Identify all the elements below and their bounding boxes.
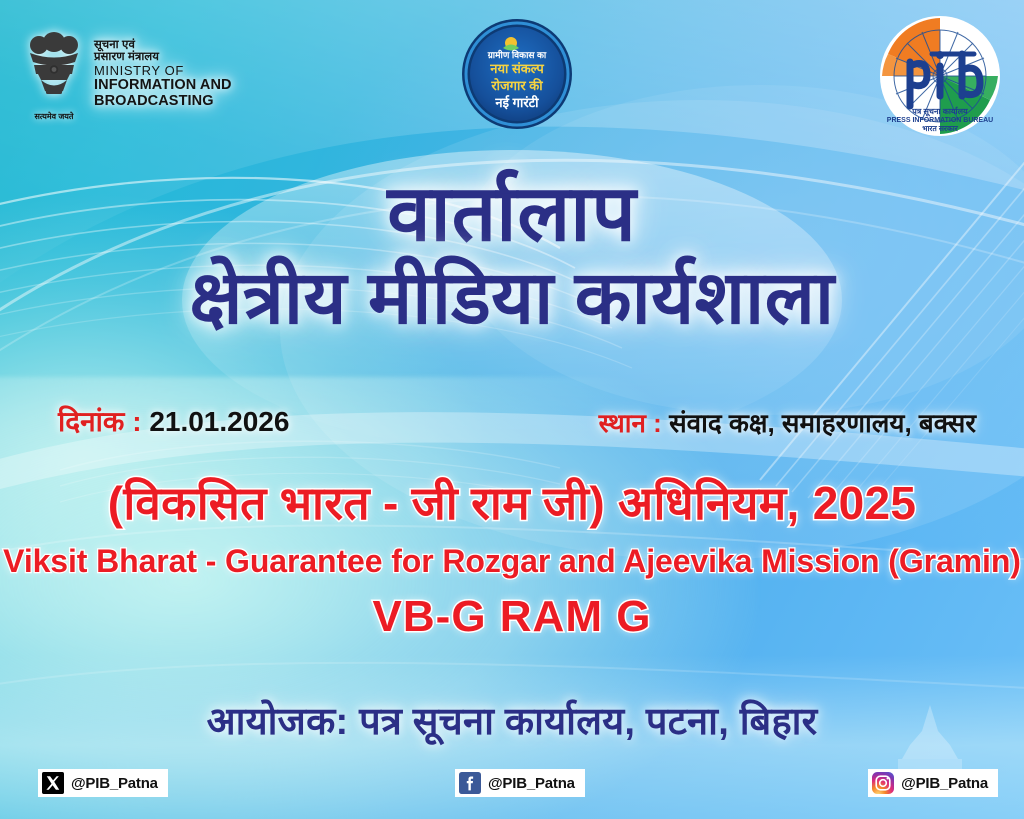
headline-line-2: क्षेत्रीय मीडिया कार्यशाला	[0, 258, 1024, 338]
event-poster: सत्यमेव जयते सूचना एवं प्रसारण मंत्रालय …	[0, 0, 1024, 819]
event-meta: दिनांक : 21.01.2026 स्थान : संवाद कक्ष, …	[0, 402, 1024, 450]
scheme-abbreviation: VB-G RAM G	[0, 592, 1024, 643]
ministry-english-line-3: BROADCASTING	[94, 94, 232, 109]
event-date-value: 21.01.2026	[149, 406, 289, 437]
facebook-handle-text: @PIB_Patna	[488, 775, 575, 792]
ministry-logo: सत्यमेव जयते सूचना एवं प्रसारण मंत्रालय …	[22, 26, 232, 122]
headline-line-1: वार्तालाप	[0, 174, 1024, 252]
instagram-icon	[872, 772, 894, 794]
social-footer: @PIB_Patna @PIB_Patna	[0, 769, 1024, 803]
svg-text:PRESS INFORMATION BUREAU: PRESS INFORMATION BUREAU	[887, 117, 993, 124]
event-date-label: दिनांक :	[58, 406, 142, 437]
svg-text:पत्र सूचना कार्यालय: पत्र सूचना कार्यालय	[911, 106, 968, 117]
rural-development-seal-icon: ग्रामीण विकास का नया संकल्प रोजगार की नई…	[461, 18, 573, 130]
svg-text:रोजगार की: रोजगार की	[490, 78, 543, 93]
x-twitter-icon	[42, 772, 64, 794]
ministry-hindi-line-2: प्रसारण मंत्रालय	[94, 51, 232, 63]
ministry-english-line-2: INFORMATION AND	[94, 78, 232, 93]
scheme-block: (विकसित भारत - जी राम जी) अधिनियम, 2025 …	[0, 478, 1024, 643]
instagram-handle-text: @PIB_Patna	[901, 775, 988, 792]
event-date: दिनांक : 21.01.2026	[58, 402, 289, 440]
svg-text:ग्रामीण विकास का: ग्रामीण विकास का	[487, 49, 547, 60]
event-venue: स्थान : संवाद कक्ष, समाहरणालय, बक्सर	[599, 404, 976, 440]
scheme-english-title: Viksit Bharat - Guarantee for Rozgar and…	[0, 542, 1024, 580]
ashoka-emblem-icon	[22, 26, 86, 110]
event-venue-label: स्थान :	[599, 408, 662, 438]
social-handle-facebook[interactable]: @PIB_Patna	[455, 769, 585, 797]
svg-text:नई गारंटी: नई गारंटी	[494, 95, 539, 110]
event-venue-value: संवाद कक्ष, समाहरणालय, बक्सर	[669, 408, 976, 438]
monument-silhouette-icon	[888, 705, 972, 775]
facebook-icon	[459, 772, 481, 794]
ministry-english-line-1: MINISTRY OF	[94, 64, 232, 78]
svg-text:नया संकल्प: नया संकल्प	[489, 61, 544, 76]
ministry-hindi-line-1: सूचना एवं	[94, 39, 232, 51]
ministry-motto: सत्यमेव जयते	[22, 111, 86, 122]
scheme-hindi-title: (विकसित भारत - जी राम जी) अधिनियम, 2025	[0, 478, 1024, 530]
organiser-line: आयोजक: पत्र सूचना कार्यालय, पटना, बिहार	[0, 694, 1024, 746]
pib-logo-icon: पत्र सूचना कार्यालय PRESS INFORMATION BU…	[878, 14, 1002, 138]
page-title: वार्तालाप क्षेत्रीय मीडिया कार्यशाला	[0, 174, 1024, 338]
social-handle-x[interactable]: @PIB_Patna	[38, 769, 168, 797]
x-handle-text: @PIB_Patna	[71, 775, 158, 792]
svg-text:भारत सरकार: भारत सरकार	[922, 124, 958, 133]
social-handle-instagram[interactable]: @PIB_Patna	[868, 769, 998, 797]
